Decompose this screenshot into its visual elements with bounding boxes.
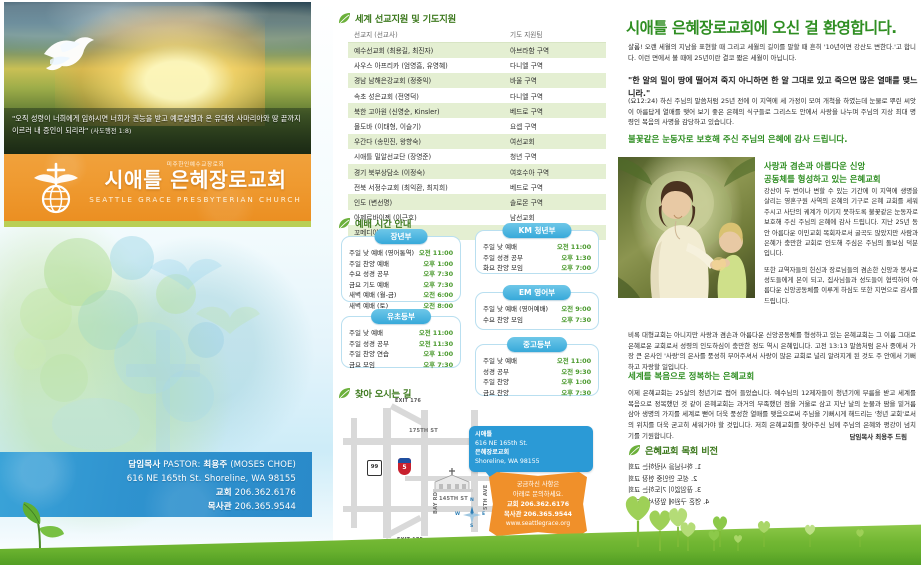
green-heading-2-line-2: 공동체를 형성하고 있는 은혜교회 (764, 173, 920, 186)
church-name-korean: 시애틀 은혜장로교회 (88, 168, 303, 194)
schedule-row-time: 오전 11:00 (419, 248, 453, 259)
schedule-row-time: 오후 7:30 (561, 388, 591, 399)
logo-band-underline (4, 221, 311, 227)
denomination-label: 미주한인예수교장로회 (88, 160, 303, 168)
table-row: 인도 (변선명)솔로몬 구역 (348, 194, 606, 209)
schedule-row-label: 금요 모임 (349, 360, 375, 371)
leaf-bullet-icon (338, 217, 351, 230)
table-row: 사우스 아프리카 (엄영흠, 유영혜)다니엘 구역 (348, 58, 606, 73)
schedule-tab-label: 장년부 (375, 229, 428, 244)
schedule-row-label: 화요 찬양 모임 (483, 263, 523, 274)
schedule-row-label: 성경 공부 (483, 367, 509, 378)
parsonage-phone-label: 목사관 (208, 502, 232, 512)
middle-panel-info: 세계 선교지원 및 기도지원 선교지 (선교사) 기도 지원팀 예수선교회 (최… (333, 0, 614, 565)
schedule-row-time: 오후 1:00 (561, 377, 591, 388)
schedule-rows: 주일 낮 예배오전 11:00주일 성경 공부오전 11:30주일 찬양 연습오… (342, 317, 460, 375)
logo-band: 미주한인예수교장로회 시애틀 은혜장로교회 SEATTLE GRACE PRES… (4, 154, 311, 221)
church-phone-label: 교회 (216, 488, 232, 498)
schedule-row: 주일 낮 예배 (영어예배)오전 9:00 (483, 304, 591, 315)
schedule-rows: 주일 낮 예배 (영어통역)오전 11:00주일 찬양 예배오후 1:00수요 … (342, 237, 460, 316)
compass-south: S (470, 524, 473, 529)
schedule-row: 주일 찬양 예배오후 1:00 (349, 259, 453, 270)
badge-line-2: 아래로 문의하세요. (493, 490, 583, 500)
schedule-row: 성경 공부오전 9:30 (483, 367, 591, 378)
side-paragraphs: 강산이 두 번이나 변할 수 있는 기간에 이 지역에 생명을 살리는 영혼구원… (764, 186, 918, 312)
prayer-team-cell: 베드로 구역 (504, 103, 606, 118)
prayer-team-cell: 베드로 구역 (504, 179, 606, 194)
table-row: 우간다 (송민진, 왕향숙)여선교회 (348, 134, 606, 149)
vision-item: 2. 성도 안인중 현장 교회 (628, 474, 918, 486)
compass-north: N (470, 498, 474, 503)
schedule-row-time: 오후 1:00 (423, 349, 453, 360)
schedule-section-title: 예배 시간 안내 (355, 216, 411, 230)
route-99-shield-icon: 99 (367, 460, 382, 476)
brochure-page: "오직 성령이 너희에게 임하시면 너희가 권능을 받고 예루살렘과 온 유대와… (0, 0, 921, 565)
schedule-rows: 주일 낮 예배오전 11:00성경 공부오전 9:30주일 찬양오후 1:00금… (476, 345, 598, 403)
hero-photo-sunrise-field: "오직 성령이 너희에게 임하시면 너희가 권능을 받고 예루살렘과 온 유대와… (4, 2, 311, 154)
prayer-team-cell: 다니엘 구역 (504, 58, 606, 73)
welcome-paragraph-2: (요12:24) 하신 주님의 말씀처럼 25년 전에 이 지역에 세 가정이 … (628, 96, 916, 128)
schedule-tab-label: 유초등부 (371, 309, 431, 324)
pastor-label-kr: 담임목사 (128, 460, 160, 470)
schedule-row: 금요 기도 예배오후 7:30 (349, 280, 453, 291)
schedule-row-time: 오후 1:00 (423, 259, 453, 270)
prayer-team-cell: 요셉 구역 (504, 118, 606, 133)
right-panel-welcome: 시애틀 은혜장로교회에 오신 걸 환영합니다. 샬롬! 오랜 세월의 지남을 표… (614, 0, 921, 565)
grass-shadow (0, 551, 921, 565)
schedule-row-label: 주일 찬양 (483, 377, 509, 388)
schedule-row: 금요 모임오후 7:30 (349, 360, 453, 371)
green-heading-2-line-1: 사랑과 겸손과 아름다운 신앙 (764, 160, 920, 173)
prayer-team-cell: 청년 구역 (504, 149, 606, 164)
side-paragraph-2: 또한 교역자들의 헌신과 장로님들의 겸손한 신앙과 봉사로 성도들에게 본이 … (764, 265, 918, 307)
schedule-row-time: 오후 1:30 (561, 253, 591, 264)
schedule-row-label: 주일 낮 예배 (영어예배) (483, 304, 548, 315)
schedule-row: 새벽 예배 (월-금)오전 6:00 (349, 290, 453, 301)
mission-field-cell: 북한 고아원 (신영순, Kinsler) (348, 103, 504, 118)
mission-field-cell: 인도 (변선명) (348, 194, 504, 209)
road-label-bay-rd: BAY RD (433, 492, 439, 514)
schedule-row-label: 주일 성경 공부 (349, 339, 389, 350)
heart-trees-right-group (614, 487, 921, 547)
callout-address-1: 616 NE 165th St. (475, 440, 587, 449)
missions-table: 선교지 (선교사) 기도 지원팀 예수선교회 (최용길, 최진자)아브라함 구역… (348, 26, 606, 240)
welcome-paragraph-1: 샬롬! 오랜 세월의 지남을 표현할 때 그리고 세월의 길이를 말할 때 흔히… (628, 42, 916, 63)
schedule-row-label: 새벽 예배 (월-금) (349, 290, 396, 301)
callout-church-name-2: 은혜장로교회 (475, 449, 509, 456)
vision-section-title: 은혜교회 목회 비전 (645, 443, 718, 457)
schedule-row-time: 오전 11:30 (419, 339, 453, 350)
interstate-5-shield-icon: 5 (398, 458, 411, 475)
leaf-bullet-icon (628, 444, 641, 457)
prayer-team-cell: 다니엘 구역 (504, 88, 606, 103)
schedule-row-label: 수요 성경 공부 (349, 269, 389, 280)
badge-pastor-phone: 목사관 206.365.9544 (493, 510, 583, 520)
schedule-row-time: 오후 7:30 (423, 269, 453, 280)
schedule-box-em-english: EM 영어부 주일 낮 예배 (영어예배)오전 9:00수요 찬양 모임오후 7… (475, 292, 599, 330)
badge-pastor-value: 206.365.9544 (523, 511, 572, 518)
pastor-name-kr: 최용주 (203, 460, 227, 470)
badge-church-label: 교회 (507, 501, 519, 508)
prayer-team-cell: 여선교회 (504, 134, 606, 149)
prayer-team-cell: 아브라함 구역 (504, 42, 606, 58)
prayer-team-cell: 솔로몬 구역 (504, 194, 606, 209)
schedule-row: 주일 찬양 연습오후 1:00 (349, 349, 453, 360)
pastor-line: 담임목사 PASTOR: 최용주 (MOSES CHOE) (0, 459, 296, 473)
jesus-illustration (618, 157, 755, 298)
hero-verse-text: "오직 성령이 너희에게 임하시면 너희가 권능을 받고 예루살렘과 온 유대와… (12, 114, 301, 135)
green-heading-1: 불꽃같은 눈동자로 보호해 주신 주님의 은혜에 감사 드립니다. (628, 133, 918, 145)
compass-rose-icon: N S E W (459, 502, 485, 528)
pastor-signature: 담임목사 최용주 드림 (850, 432, 907, 441)
hero-verse-reference: (사도행전 1:8) (91, 127, 132, 135)
schedule-section-header: 예배 시간 안내 (338, 216, 411, 230)
cross-watermark-icon (120, 330, 206, 462)
schedule-row-time: 오전 9:30 (561, 367, 591, 378)
mission-field-cell: 예수선교회 (최용길, 최진자) (348, 42, 504, 58)
table-row: 경남 남해은강교회 (정중익)바울 구역 (348, 73, 606, 88)
schedule-tab-label: 중고등부 (507, 337, 567, 352)
schedule-row-label: 주일 낮 예배 (영어통역) (349, 248, 414, 259)
schedule-box-middle-high: 중고등부 주일 낮 예배오전 11:00성경 공부오전 9:30주일 찬양오후 … (475, 344, 599, 396)
schedule-row-label: 금요 찬양 (483, 388, 509, 399)
schedule-row-label: 주일 성경 공부 (483, 253, 523, 264)
missions-col-prayer: 기도 지원팀 (504, 26, 606, 42)
badge-pastor-label: 목사관 (504, 511, 521, 518)
contact-inquiry-badge: 궁금하신 사항은 아래로 문의하세요. 교회 206.362.6176 목사관 … (489, 472, 587, 536)
jesus-with-child-image (618, 157, 755, 298)
mission-field-cell: 시애틀 밀알선교단 (장영준) (348, 149, 504, 164)
hero-verse-block: "오직 성령이 너희에게 임하시면 너희가 권능을 받고 예루살렘과 온 유대와… (4, 108, 311, 154)
schedule-row: 주일 낮 예배오전 11:00 (349, 328, 453, 339)
schedule-row-label: 금요 기도 예배 (349, 280, 389, 291)
green-heading-3: 세계를 복음으로 정복하는 은혜교회 (628, 370, 918, 382)
schedule-box-elementary: 유초등부 주일 낮 예배오전 11:00주일 성경 공부오전 11:30주일 찬… (341, 316, 461, 368)
schedule-row: 주일 낮 예배오전 11:00 (483, 242, 591, 253)
table-row: 몰도바 (이태형, 이슬기)요셉 구역 (348, 118, 606, 133)
church-map-callout: 시애틀 616 NE 165th St. 은혜장로교회 Shoreline, W… (469, 426, 593, 472)
table-row: 시애틀 밀알선교단 (장영준)청년 구역 (348, 149, 606, 164)
vision-section-header: 은혜교회 목회 비전 (628, 443, 718, 457)
pastor-name-en: (MOSES CHOE) (230, 460, 296, 470)
schedule-row-time: 오전 6:00 (423, 290, 453, 301)
schedule-row: 주일 낮 예배오전 11:00 (483, 356, 591, 367)
prayer-team-cell: 바울 구역 (504, 73, 606, 88)
schedule-row: 금요 찬양오후 7:30 (483, 388, 591, 399)
dove-icon (40, 30, 98, 74)
schedule-row-label: 주일 찬양 예배 (349, 259, 389, 270)
church-phone-value: 206.362.6176 (235, 488, 296, 498)
schedule-row: 주일 성경 공부오후 1:30 (483, 253, 591, 264)
callout-church-name-1: 시애틀 (475, 431, 492, 438)
mission-field-cell: 우간다 (송민진, 왕향숙) (348, 134, 504, 149)
mission-field-cell: 사우스 아프리카 (엄영흠, 유영혜) (348, 58, 504, 73)
callout-address-2: Shoreline, WA 98155 (475, 458, 587, 467)
schedule-row: 주일 찬양오후 1:00 (483, 377, 591, 388)
prayer-team-cell: 여호수아 구역 (504, 164, 606, 179)
missions-section-header: 세계 선교지원 및 기도지원 (338, 11, 456, 25)
mission-field-cell: 몰도바 (이태형, 이슬기) (348, 118, 504, 133)
pastor-label-en: PASTOR: (163, 460, 200, 470)
exit-label-176: EXIT 176 (395, 399, 421, 404)
schedule-row: 수요 찬양 모임오후 7:30 (483, 315, 591, 326)
schedule-row-label: 주일 낮 예배 (483, 242, 517, 253)
church-name-english: SEATTLE GRACE PRESBYTERIAN CHURCH (88, 195, 303, 204)
compass-west: W (455, 512, 460, 517)
schedule-row: 주일 낮 예배 (영어통역)오전 11:00 (349, 248, 453, 259)
leaf-bullet-icon (338, 12, 351, 25)
mission-field-cell: 경남 남해은강교회 (정중익) (348, 73, 504, 88)
schedule-row-time: 오전 9:00 (561, 304, 591, 315)
table-row: 전북 서정수교회 (최익환, 최지희)베드로 구역 (348, 179, 606, 194)
schedule-row-time: 오전 11:00 (419, 328, 453, 339)
parsonage-phone-value: 206.365.9544 (235, 502, 296, 512)
table-row: 경기 북부상담소 (이정숙)여호수아 구역 (348, 164, 606, 179)
mission-field-cell: 경기 북부상담소 (이정숙) (348, 164, 504, 179)
missions-table-body: 예수선교회 (최용길, 최진자)아브라함 구역사우스 아프리카 (엄영흠, 유영… (348, 42, 606, 240)
road-west-arterial (351, 418, 357, 528)
schedule-box-km-youth: KM 청년부 주일 낮 예배오전 11:00주일 성경 공부오후 1:30화요 … (475, 230, 599, 274)
side-paragraph-1: 강산이 두 번이나 변할 수 있는 기간에 이 지역에 생명을 살리는 영혼구원… (764, 186, 918, 259)
logo-text-group: 미주한인예수교장로회 시애틀 은혜장로교회 SEATTLE GRACE PRES… (88, 160, 303, 204)
schedule-row-label: 주일 낮 예배 (483, 356, 517, 367)
schedule-row-label: 주일 찬양 연습 (349, 349, 389, 360)
green-heading-2: 사랑과 겸손과 아름다운 신앙 공동체를 형성하고 있는 은혜교회 (764, 160, 920, 185)
schedule-row-time: 오후 7:30 (423, 360, 453, 371)
table-row: 북한 고아원 (신영순, Kinsler)베드로 구역 (348, 103, 606, 118)
vision-item: 1. 하나님을 사랑하는 교회 (628, 462, 918, 474)
schedule-row-time: 오후 7:30 (423, 280, 453, 291)
schedule-rows: 주일 낮 예배오전 11:00주일 성경 공부오후 1:30화요 찬양 모임오후… (476, 231, 598, 279)
location-map[interactable]: 175TH ST 145TH ST 148TH ST 5TH AVE BAY R… (343, 398, 605, 548)
schedule-row-label: 수요 찬양 모임 (483, 315, 523, 326)
missions-table-header-row: 선교지 (선교사) 기도 지원팀 (348, 26, 606, 42)
mission-field-cell: 속초 성은교회 (전영덕) (348, 88, 504, 103)
leaf-sprout-icon (18, 498, 66, 550)
church-logo-globe-cross-icon (30, 162, 82, 214)
compass-east: E (482, 512, 485, 517)
welcome-paragraph-3: 비록 대형교회는 아니지만 사랑과 겸손과 아름다운 신앙공동체를 형성하고 있… (628, 330, 916, 373)
address-line: 616 NE 165th St. Shoreline, WA 98155 (0, 473, 296, 487)
road-i5-main (383, 408, 391, 538)
schedule-row-label: 주일 낮 예배 (349, 328, 383, 339)
badge-line-1: 궁금하신 사항은 (493, 480, 583, 490)
badge-website[interactable]: www.seattlegrace.org (493, 520, 583, 529)
schedule-row: 화요 찬양 모임오후 7:00 (483, 263, 591, 274)
schedule-row: 주일 성경 공부오전 11:30 (349, 339, 453, 350)
schedule-row-time: 오후 7:00 (561, 263, 591, 274)
missions-col-field: 선교지 (선교사) (348, 26, 504, 42)
mission-field-cell: 전북 서정수교회 (최익환, 최지희) (348, 179, 504, 194)
schedule-row: 수요 성경 공부오후 7:30 (349, 269, 453, 280)
table-row: 속초 성은교회 (전영덕)다니엘 구역 (348, 88, 606, 103)
schedule-box-adult: 장년부 주일 낮 예배 (영어통역)오전 11:00주일 찬양 예배오후 1:0… (341, 236, 461, 302)
welcome-title: 시애틀 은혜장로교회에 오신 걸 환영합니다. (626, 16, 918, 38)
table-row: 예수선교회 (최용길, 최진자)아브라함 구역 (348, 42, 606, 58)
schedule-row-time: 오후 7:30 (561, 315, 591, 326)
missions-section-title: 세계 선교지원 및 기도지원 (355, 11, 456, 25)
badge-church-value: 206.362.6176 (521, 501, 570, 508)
left-panel-cover: "오직 성령이 너희에게 임하시면 너희가 권능을 받고 예루살렘과 온 유대와… (0, 0, 333, 565)
schedule-row-time: 오전 11:00 (557, 356, 591, 367)
road-label-175th: 175TH ST (409, 428, 438, 434)
church-building-icon (431, 468, 475, 492)
schedule-tab-label: KM 청년부 (502, 223, 571, 238)
badge-church-phone: 교회 206.362.6176 (493, 500, 583, 510)
schedule-tab-label: EM 영어부 (503, 285, 571, 300)
schedule-row-time: 오전 11:00 (557, 242, 591, 253)
